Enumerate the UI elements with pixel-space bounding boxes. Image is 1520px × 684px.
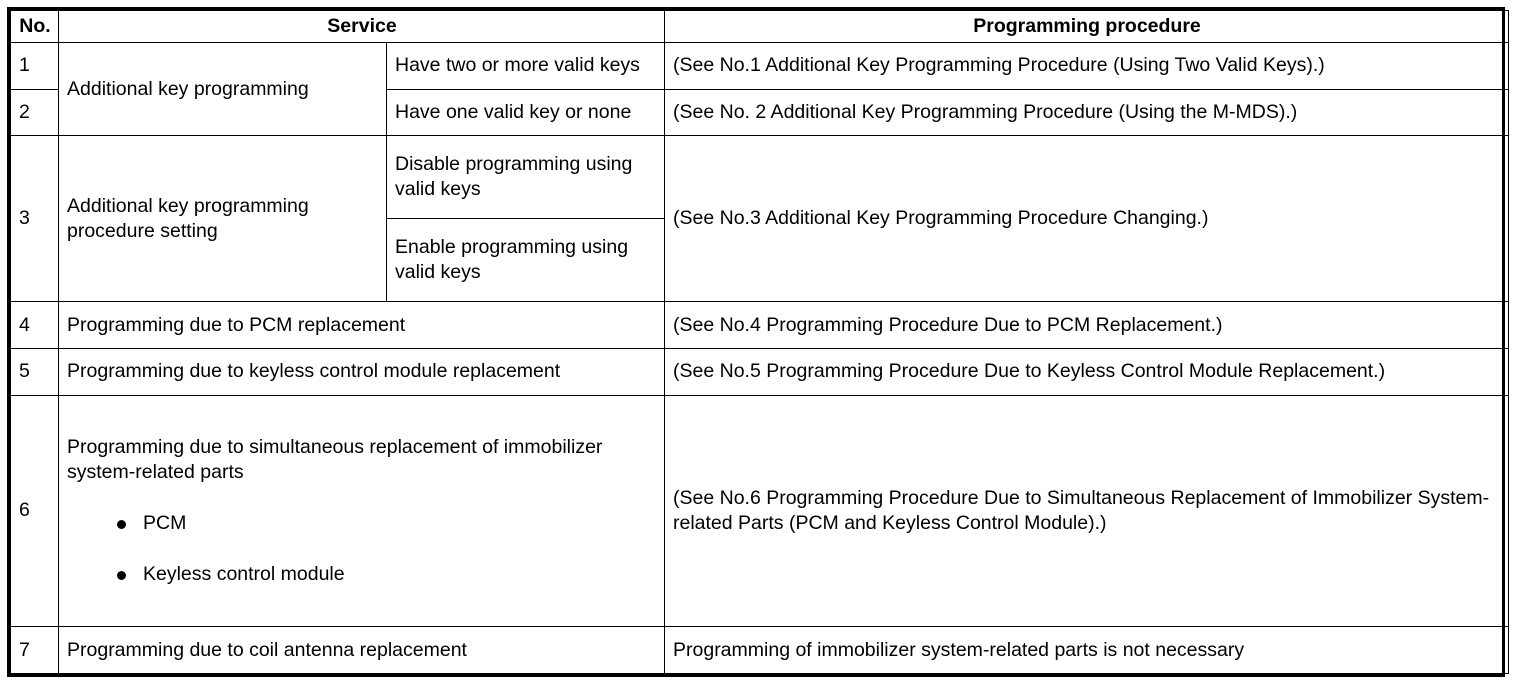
table-row: 6 Programming due to simultaneous replac… — [11, 395, 1509, 627]
procedure-7: Programming of immobilizer system-relate… — [665, 627, 1509, 674]
table-body: 1 Additional key programming Have two or… — [11, 42, 1509, 673]
row-number-2: 2 — [11, 89, 59, 136]
table-row: 1 Additional key programming Have two or… — [11, 42, 1509, 89]
header-no: No. — [11, 11, 59, 43]
service-main-5: Programming due to keyless control modul… — [59, 348, 665, 395]
list-item: Keyless control module — [67, 562, 657, 587]
service-sub-2: Have one valid key or none — [387, 89, 665, 136]
table-row: 4 Programming due to PCM replacement (Se… — [11, 302, 1509, 349]
header-service: Service — [59, 11, 665, 43]
procedure-2: (See No. 2 Additional Key Programming Pr… — [665, 89, 1509, 136]
immobilizer-programming-table: No. Service Programming procedure 1 Addi… — [10, 10, 1509, 674]
table-head: No. Service Programming procedure — [11, 11, 1509, 43]
procedure-5: (See No.5 Programming Procedure Due to K… — [665, 348, 1509, 395]
procedure-1: (See No.1 Additional Key Programming Pro… — [665, 42, 1509, 89]
service-main-4: Programming due to PCM replacement — [59, 302, 665, 349]
row-number-4: 4 — [11, 302, 59, 349]
row-number-1: 1 — [11, 42, 59, 89]
header-row: No. Service Programming procedure — [11, 11, 1509, 43]
service-main-1: Additional key programming — [59, 42, 387, 135]
row-number-7: 7 — [11, 627, 59, 674]
row-number-6: 6 — [11, 395, 59, 627]
row-number-3: 3 — [11, 136, 59, 302]
service-main-7: Programming due to coil antenna replacem… — [59, 627, 665, 674]
service-main-3: Additional key programming procedure set… — [59, 136, 387, 302]
service-main-6: Programming due to simultaneous replacem… — [59, 395, 665, 627]
procedure-4: (See No.4 Programming Procedure Due to P… — [665, 302, 1509, 349]
table-row: 3 Additional key programming procedure s… — [11, 136, 1509, 219]
service-main-6-text: Programming due to simultaneous replacem… — [67, 435, 657, 485]
table-row: 7 Programming due to coil antenna replac… — [11, 627, 1509, 674]
immobilizer-programming-table-container: No. Service Programming procedure 1 Addi… — [7, 7, 1505, 677]
service-sub-3a: Disable programming using valid keys — [387, 136, 665, 219]
service-sub-1: Have two or more valid keys — [387, 42, 665, 89]
service-sub-3b: Enable programming using valid keys — [387, 219, 665, 302]
row-number-5: 5 — [11, 348, 59, 395]
procedure-6: (See No.6 Programming Procedure Due to S… — [665, 395, 1509, 627]
header-procedure: Programming procedure — [665, 11, 1509, 43]
list-item: PCM — [67, 511, 657, 536]
procedure-3: (See No.3 Additional Key Programming Pro… — [665, 136, 1509, 302]
table-row: 5 Programming due to keyless control mod… — [11, 348, 1509, 395]
service-bullet-list-6: PCM Keyless control module — [67, 511, 657, 587]
